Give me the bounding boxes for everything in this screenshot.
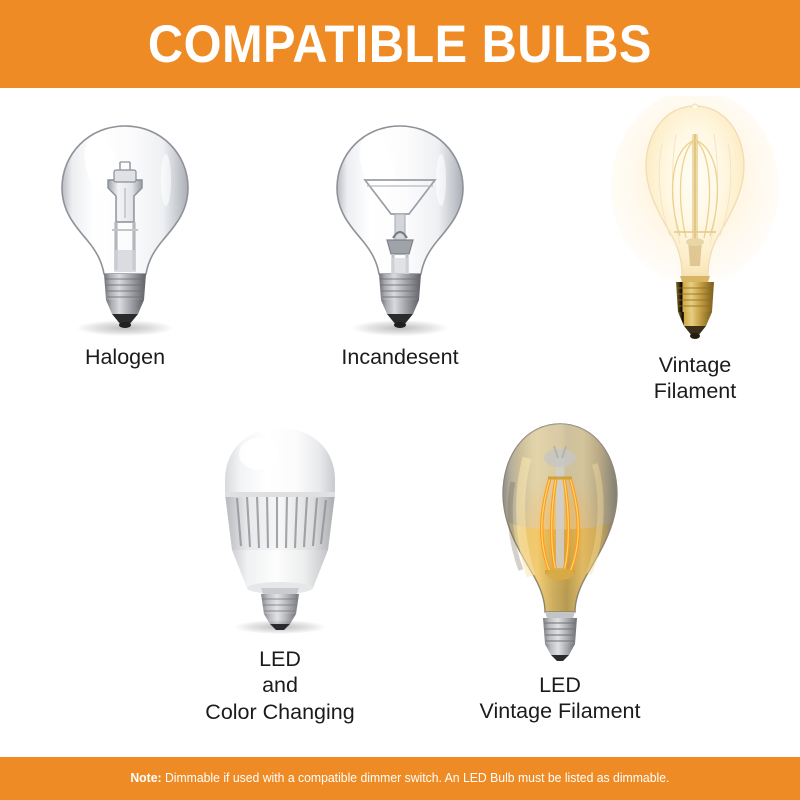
- bulb-card-led-vintage-filament: LED Vintage Filament: [455, 412, 665, 725]
- incandescent-bulb-icon: [305, 118, 495, 332]
- bulb-card-vintage-filament: Vintage Filament: [600, 96, 790, 405]
- page-title: COMPATIBLE BULBS: [148, 18, 652, 71]
- compatible-bulbs-infographic: COMPATIBLE BULBS: [0, 0, 800, 800]
- bulb-caption-led-vintage-filament: LED Vintage Filament: [480, 672, 641, 725]
- bulb-card-halogen: Halogen: [30, 118, 220, 370]
- note-text: Note: Dimmable if used with a compatible…: [130, 772, 669, 785]
- header-banner: COMPATIBLE BULBS: [0, 0, 800, 88]
- vintage-filament-bulb-icon: [600, 96, 790, 344]
- bulb-caption-led: LED and Color Changing: [205, 646, 354, 725]
- led-bulb-icon: [185, 418, 375, 632]
- halogen-bulb-icon: [30, 118, 220, 332]
- led-vintage-filament-bulb-icon: [455, 412, 665, 662]
- note-bar: Note: Dimmable if used with a compatible…: [0, 757, 800, 800]
- bulb-card-led: LED and Color Changing: [175, 418, 385, 725]
- bulb-card-incandesent: Incandesent: [305, 118, 495, 370]
- note-body: Dimmable if used with a compatible dimme…: [162, 771, 670, 785]
- bulb-caption-vintage-filament: Vintage Filament: [654, 352, 736, 405]
- bulb-caption-incandesent: Incandesent: [341, 344, 458, 370]
- note-label: Note:: [130, 771, 161, 785]
- bulb-caption-halogen: Halogen: [85, 344, 165, 370]
